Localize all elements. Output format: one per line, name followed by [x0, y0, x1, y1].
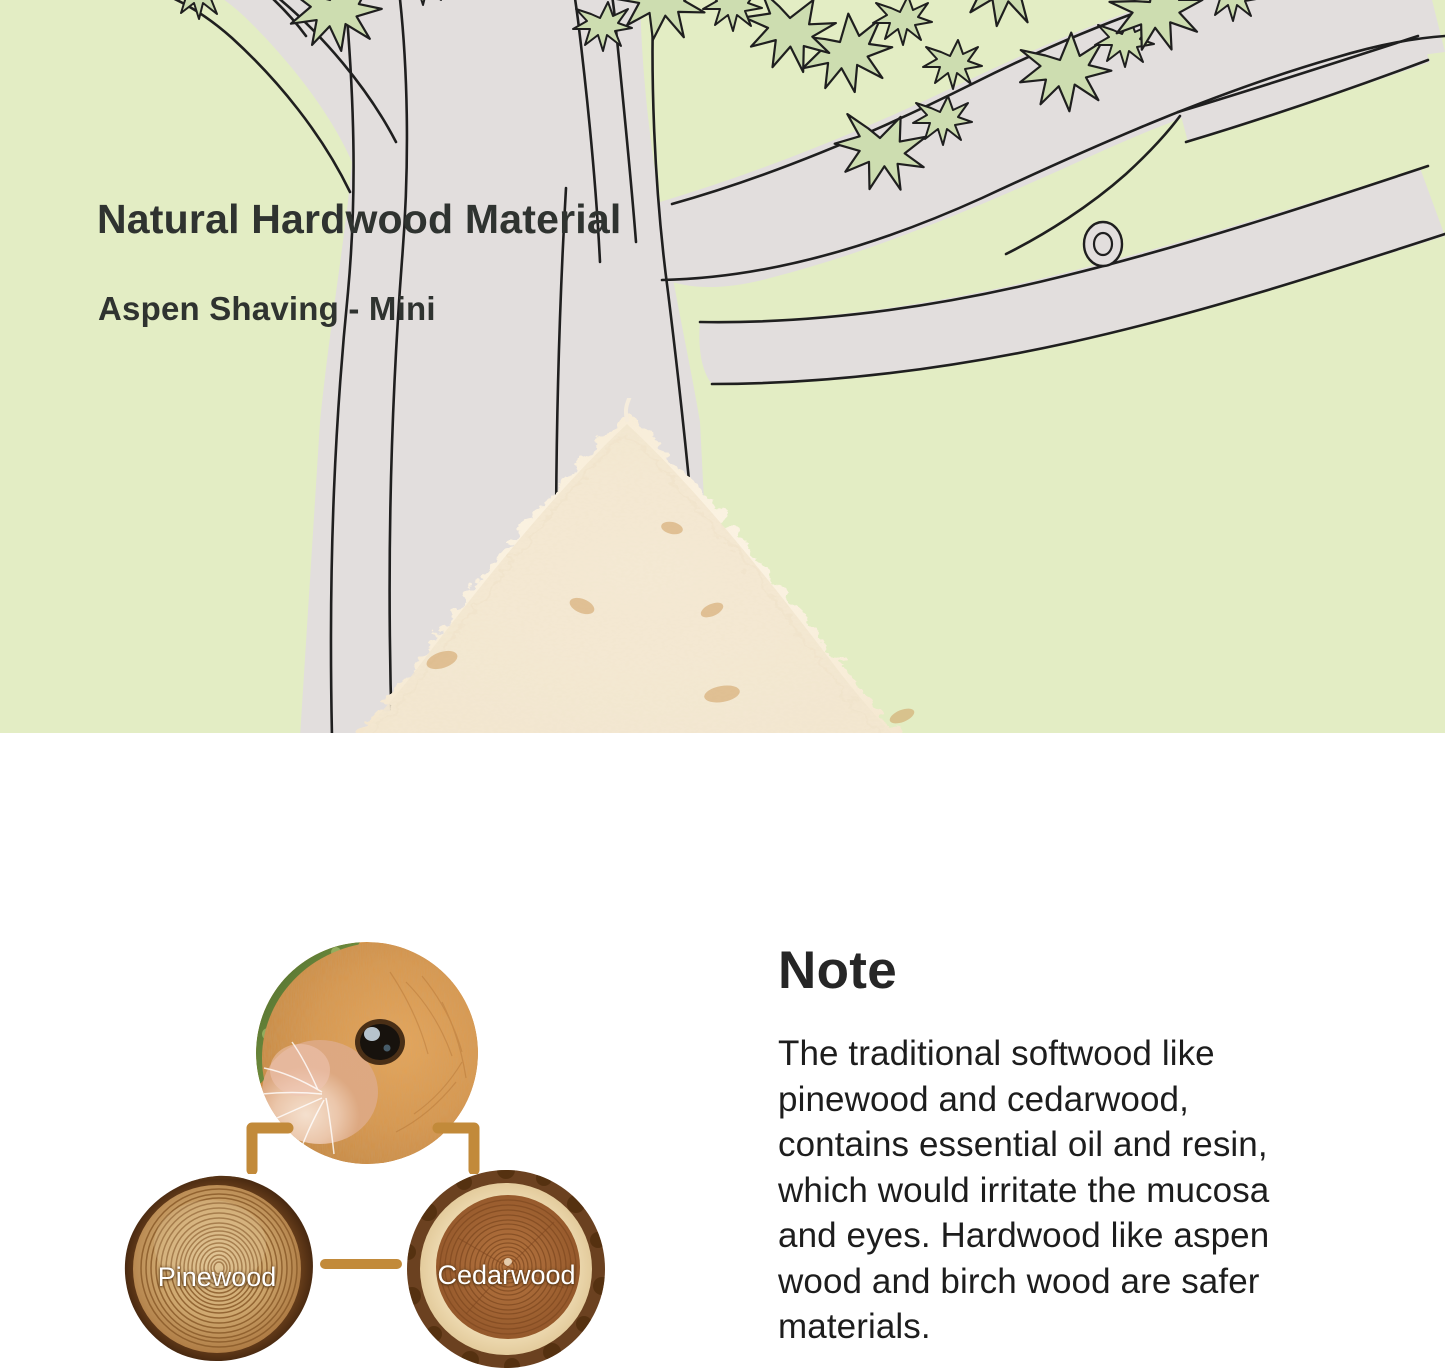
- cedarwood-log-icon: [404, 1168, 609, 1370]
- arrow-up-right-connector: [428, 1118, 480, 1174]
- arrow-up-left-icon: [246, 1118, 298, 1174]
- arrow-up-left-connector: [246, 1118, 298, 1174]
- pinewood-log-icon: [118, 1172, 316, 1368]
- note-body: The traditional softwood like pinewood a…: [778, 1031, 1318, 1350]
- horizontal-bar-connector: [318, 1256, 404, 1272]
- horizontal-bar-icon: [318, 1256, 404, 1272]
- note-block: Note The traditional softwood like pinew…: [778, 944, 1318, 1350]
- pinewood-log-image: Pinewood: [118, 1172, 316, 1368]
- note-title: Note: [778, 944, 1318, 997]
- tree-knot-detail: [1084, 222, 1122, 266]
- page-subtitle: Aspen Shaving - Mini: [98, 290, 436, 328]
- arrow-up-right-icon: [428, 1118, 480, 1174]
- page-title: Natural Hardwood Material: [97, 196, 621, 243]
- product-infographic: Natural Hardwood Material Aspen Shaving …: [0, 0, 1445, 1370]
- cedarwood-log-image: Cedarwood: [404, 1168, 609, 1370]
